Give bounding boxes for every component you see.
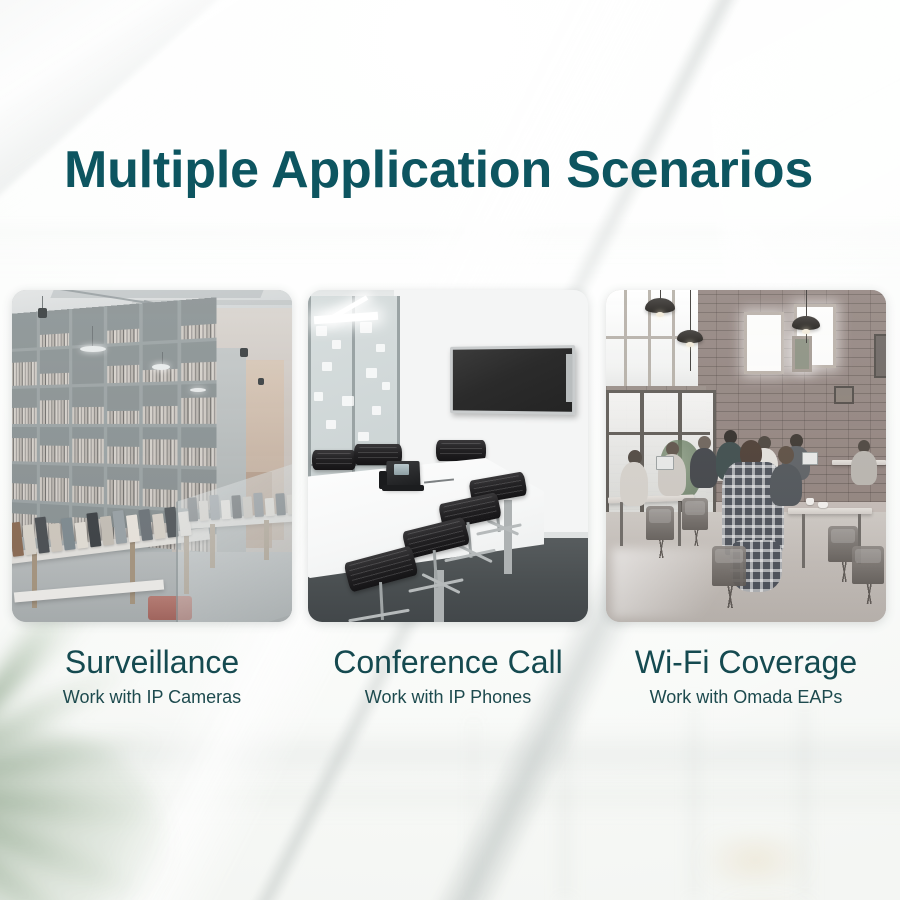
caption-surveillance: Surveillance Work with IP Cameras [12,644,292,709]
caption-title: Wi-Fi Coverage [606,644,886,682]
caption-subtitle: Work with IP Phones [308,686,588,709]
wall-tv [450,345,575,415]
scenario-card-wifi[interactable] [606,290,886,622]
caption-title: Surveillance [12,644,292,682]
cafe-photo [606,290,886,622]
promo-banner: Multiple Application Scenarios [0,0,900,900]
caption-wifi: Wi-Fi Coverage Work with Omada EAPs [606,644,886,709]
conference-room-photo [308,290,588,622]
caption-subtitle: Work with IP Cameras [12,686,292,709]
caption-conference: Conference Call Work with IP Phones [308,644,588,709]
library-photo [12,290,292,622]
scenario-card-surveillance[interactable] [12,290,292,622]
caption-subtitle: Work with Omada EAPs [606,686,886,709]
caption-title: Conference Call [308,644,588,682]
scenario-card-conference[interactable] [308,290,588,622]
scenario-card-list [0,0,900,900]
